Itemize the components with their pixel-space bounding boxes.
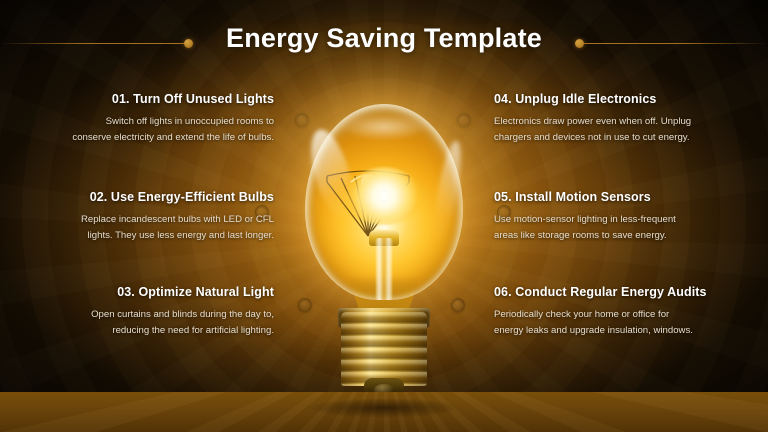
- header-rule-dot-left: [184, 39, 193, 48]
- tip-title-01: 01. Turn Off Unused Lights: [6, 92, 274, 107]
- tip-item-03[interactable]: 03. Optimize Natural Light Open curtains…: [6, 285, 274, 338]
- tip-desc-05: Use motion-sensor lighting in less-frequ…: [494, 212, 762, 243]
- tip-desc-06-line2: energy leaks and upgrade insulation, win…: [494, 323, 762, 339]
- tip-desc-04-line1: Electronics draw power even when off. Un…: [494, 114, 762, 130]
- tip-desc-04-line2: chargers and devices not in use to cut e…: [494, 130, 762, 146]
- tip-desc-03: Open curtains and blinds during the day …: [6, 307, 274, 338]
- left-tips-column: 01. Turn Off Unused Lights Switch off li…: [6, 92, 274, 338]
- tip-desc-01-line2: conserve electricity and extend the life…: [6, 130, 274, 146]
- spacer: [494, 145, 762, 190]
- tip-item-06[interactable]: 06. Conduct Regular Energy Audits Period…: [494, 285, 762, 338]
- tip-desc-06-line1: Periodically check your home or office f…: [494, 307, 762, 323]
- tip-item-02[interactable]: 02. Use Energy-Efficient Bulbs Replace i…: [6, 190, 274, 243]
- bulb-screw-base: [341, 312, 427, 386]
- tip-title-03: 03. Optimize Natural Light: [6, 285, 274, 300]
- tip-desc-03-line1: Open curtains and blinds during the day …: [6, 307, 274, 323]
- tip-desc-04: Electronics draw power even when off. Un…: [494, 114, 762, 145]
- tip-desc-06: Periodically check your home or office f…: [494, 307, 762, 338]
- tip-title-04: 04. Unplug Idle Electronics: [494, 92, 762, 107]
- tip-desc-01-line1: Switch off lights in unoccupied rooms to: [6, 114, 274, 130]
- bulb-base-threads: [341, 312, 427, 386]
- light-bulb-illustration: [289, 104, 479, 420]
- spacer: [6, 145, 274, 190]
- tip-title-06: 06. Conduct Regular Energy Audits: [494, 285, 762, 300]
- tip-desc-03-line2: reducing the need for artificial lightin…: [6, 323, 274, 339]
- header-rule-dot-right: [575, 39, 584, 48]
- right-tips-column: 04. Unplug Idle Electronics Electronics …: [494, 92, 762, 338]
- tip-desc-02-line2: lights. They use less energy and last lo…: [6, 228, 274, 244]
- bulb-floor-shadow: [309, 398, 459, 418]
- page-title: Energy Saving Template: [208, 23, 560, 54]
- tip-desc-05-line2: areas like storage rooms to save energy.: [494, 228, 762, 244]
- tip-title-05: 05. Install Motion Sensors: [494, 190, 762, 205]
- header-rule-left: [0, 43, 188, 44]
- slide-canvas: Energy Saving Template: [0, 0, 768, 432]
- slide-header: Energy Saving Template: [0, 0, 768, 76]
- tip-desc-02: Replace incandescent bulbs with LED or C…: [6, 212, 274, 243]
- tip-desc-02-line1: Replace incandescent bulbs with LED or C…: [6, 212, 274, 228]
- spacer: [494, 243, 762, 285]
- tip-desc-01: Switch off lights in unoccupied rooms to…: [6, 114, 274, 145]
- tip-item-05[interactable]: 05. Install Motion Sensors Use motion-se…: [494, 190, 762, 243]
- spacer: [6, 243, 274, 285]
- tip-desc-05-line1: Use motion-sensor lighting in less-frequ…: [494, 212, 762, 228]
- header-rule-right: [580, 43, 768, 44]
- bulb-highlight-top: [340, 114, 428, 140]
- tip-item-04[interactable]: 04. Unplug Idle Electronics Electronics …: [494, 92, 762, 145]
- tip-item-01[interactable]: 01. Turn Off Unused Lights Switch off li…: [6, 92, 274, 145]
- bulb-stem: [376, 238, 393, 300]
- tip-title-02: 02. Use Energy-Efficient Bulbs: [6, 190, 274, 205]
